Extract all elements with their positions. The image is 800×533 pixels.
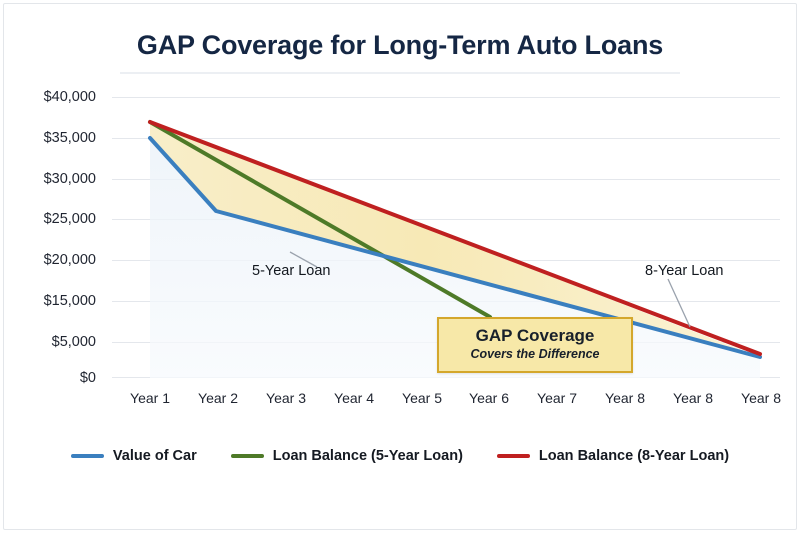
title-divider (120, 72, 680, 74)
legend-item-value-of-car[interactable]: Value of Car (71, 448, 197, 464)
y-tick-label: $35,000 (0, 130, 96, 146)
chart-card: GAP Coverage for Long-Term Auto Loans $4… (0, 0, 800, 533)
y-tick-label: $15,000 (0, 293, 96, 309)
gap-callout-subtitle: Covers the Difference (439, 346, 631, 363)
legend-swatch-icon (231, 454, 264, 458)
y-tick-label: $25,000 (0, 211, 96, 227)
chart-title: GAP Coverage for Long-Term Auto Loans (0, 30, 800, 61)
y-tick-label: $0 (0, 370, 96, 386)
legend-swatch-icon (71, 454, 104, 458)
x-tick-label: Year 8 (719, 390, 800, 406)
legend-item-loan-balance-8-year[interactable]: Loan Balance (8-Year Loan) (497, 448, 729, 464)
legend-swatch-icon (497, 454, 530, 458)
gap-coverage-callout: GAP Coverage Covers the Difference (437, 317, 633, 373)
y-tick-label: $40,000 (0, 89, 96, 105)
legend-item-label: Loan Balance (8-Year Loan) (539, 448, 729, 464)
legend-item-label: Loan Balance (5-Year Loan) (273, 448, 463, 464)
annotation-label-5-year-loan: 5-Year Loan (252, 263, 330, 279)
y-tick-label: $30,000 (0, 171, 96, 187)
y-tick-label: $20,000 (0, 252, 96, 268)
chart-legend: Value of Car Loan Balance (5-Year Loan) … (0, 448, 800, 464)
annotation-label-8-year-loan: 8-Year Loan (645, 263, 723, 279)
legend-item-loan-balance-5-year[interactable]: Loan Balance (5-Year Loan) (231, 448, 463, 464)
legend-item-label: Value of Car (113, 448, 197, 464)
y-tick-label: $5,000 (0, 334, 96, 350)
gap-callout-title: GAP Coverage (439, 325, 631, 346)
x-axis: Year 1 Year 2 Year 3 Year 4 Year 5 Year … (112, 390, 780, 412)
